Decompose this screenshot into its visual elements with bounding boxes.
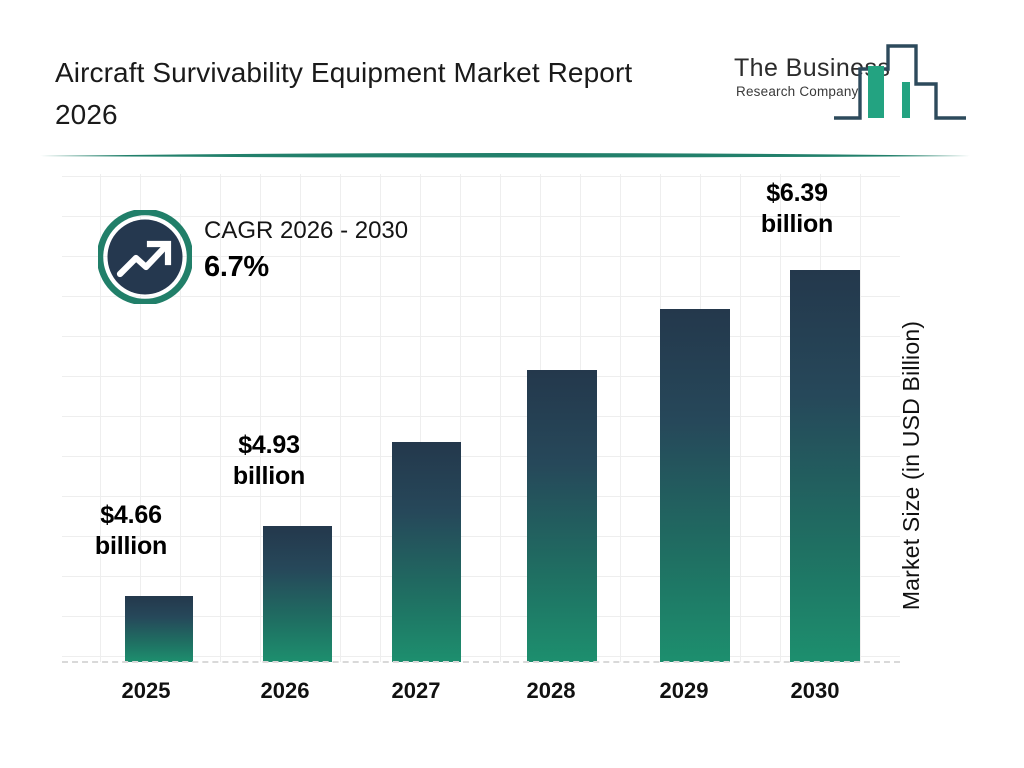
bar-2027[interactable] — [392, 442, 461, 662]
bar-2029[interactable] — [660, 309, 730, 662]
bar-2026[interactable] — [263, 526, 332, 662]
bar-value-label-2025: $4.66 billion — [62, 500, 200, 562]
x-tick-label-2025: 2025 — [86, 678, 206, 704]
bar-value-label-2025-line1: $4.66 — [62, 500, 200, 531]
page-title: Aircraft Survivability Equipment Market … — [55, 52, 695, 136]
company-logo: The Business Research Company — [728, 34, 968, 126]
x-tick-label-2028: 2028 — [491, 678, 611, 704]
cagr-badge: CAGR 2026 - 2030 6.7% — [98, 210, 478, 310]
cagr-text-block: CAGR 2026 - 2030 6.7% — [204, 215, 474, 287]
bar-value-label-2025-line2: billion — [62, 531, 200, 562]
x-tick-label-2030: 2030 — [755, 678, 875, 704]
bar-value-label-2026-line1: $4.93 — [200, 430, 338, 461]
chart-page: Aircraft Survivability Equipment Market … — [0, 0, 1024, 768]
header: Aircraft Survivability Equipment Market … — [0, 0, 1024, 160]
trending-up-icon — [98, 210, 192, 304]
x-tick-label-2026: 2026 — [225, 678, 345, 704]
bar-value-label-2026-line2: billion — [200, 461, 338, 492]
y-axis-title-text: Market Size (in USD Billion) — [899, 320, 926, 609]
cagr-value: 6.7% — [204, 247, 474, 287]
bar-chart: $4.66 billion $4.93 billion $6.39 billio… — [0, 160, 1024, 768]
bar-2030[interactable] — [790, 270, 860, 662]
x-tick-label-2027: 2027 — [356, 678, 476, 704]
axis-baseline — [62, 661, 900, 663]
cagr-period-label: CAGR 2026 - 2030 — [204, 215, 474, 247]
bar-value-label-2030-line1: $6.39 — [726, 178, 868, 209]
bar-value-label-2030-line2: billion — [726, 209, 868, 240]
bar-value-label-2026: $4.93 billion — [200, 430, 338, 492]
bar-2025[interactable] — [125, 596, 193, 662]
bar-value-label-2030: $6.39 billion — [726, 178, 868, 240]
y-axis-title: Market Size (in USD Billion) — [897, 275, 927, 655]
x-tick-label-2029: 2029 — [624, 678, 744, 704]
bar-2028[interactable] — [527, 370, 597, 662]
bar-chart-logo-icon — [832, 36, 968, 126]
